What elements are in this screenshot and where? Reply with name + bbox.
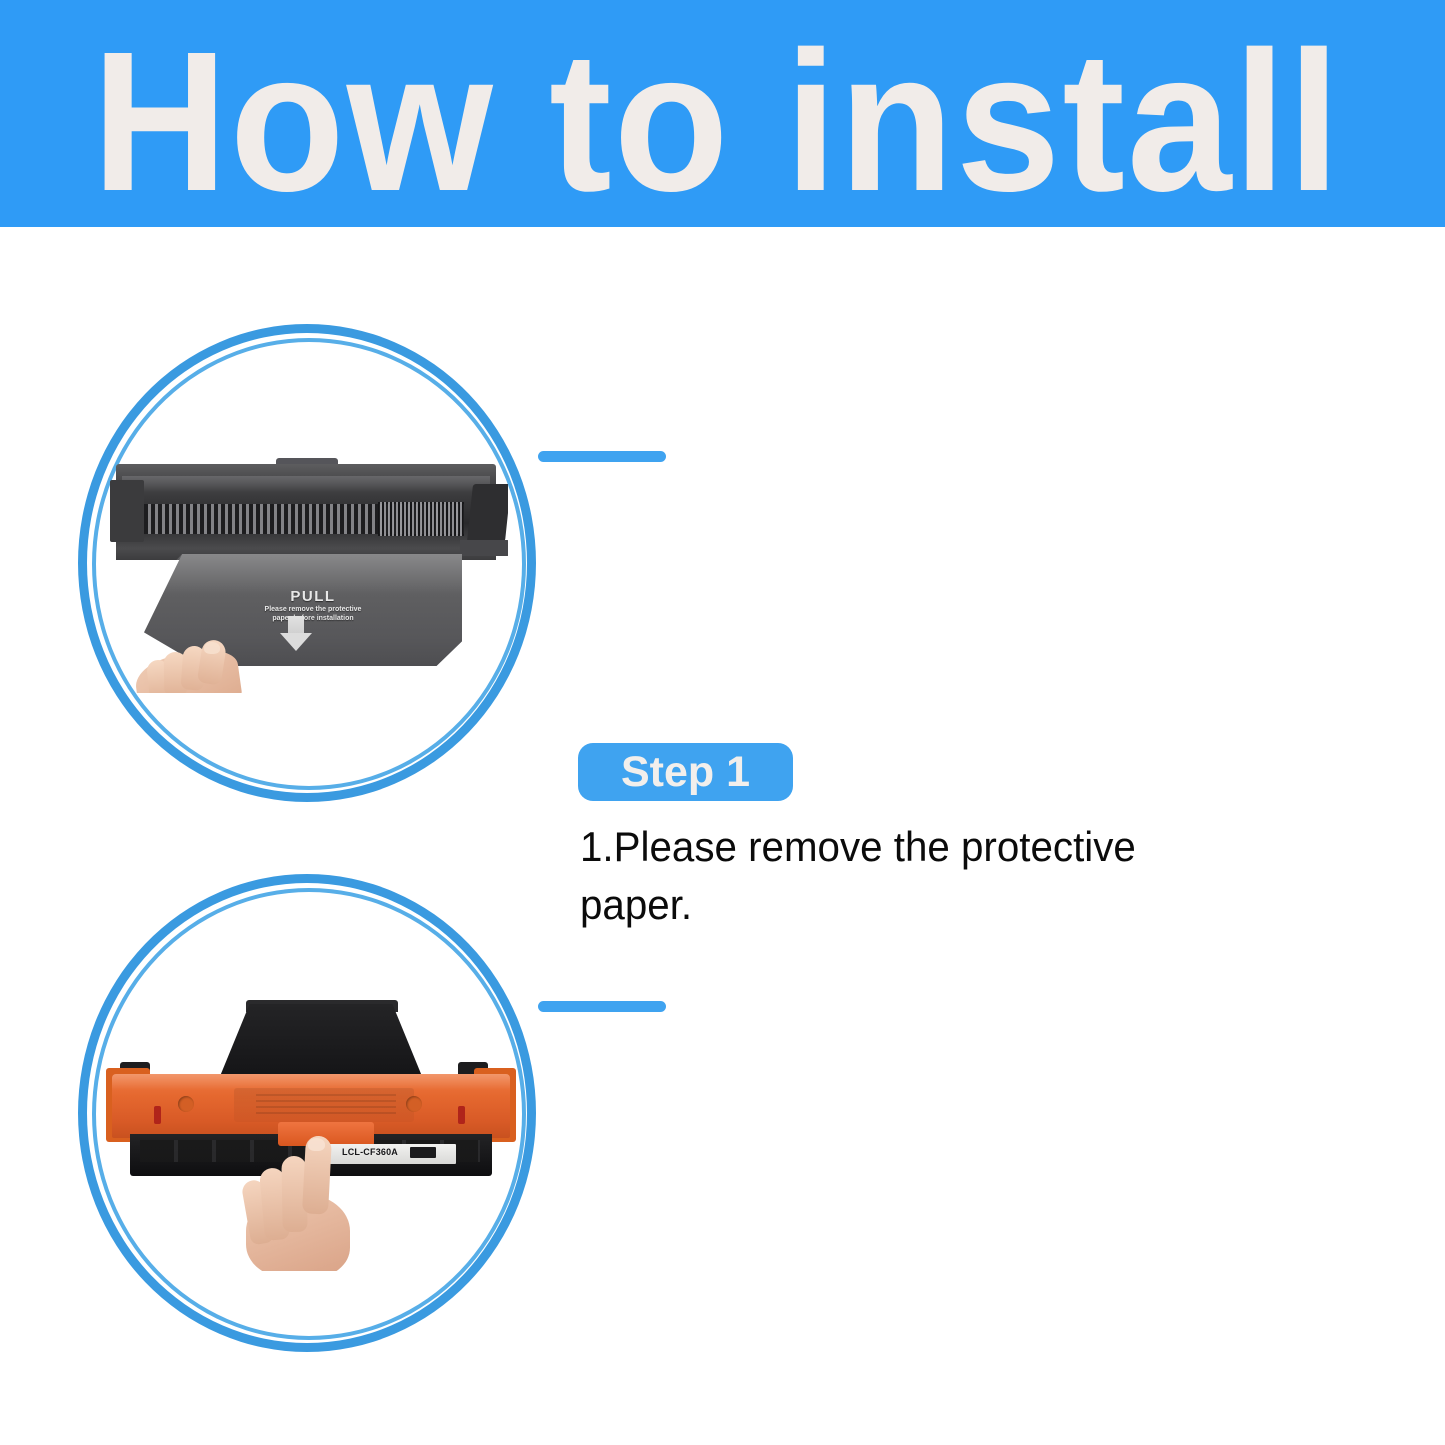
- product-label-barcode: [410, 1147, 436, 1158]
- red-marker-right: [458, 1106, 465, 1124]
- how-to-install-page: How to install: [0, 0, 1445, 1445]
- step-2-photo-circle: LCL-CF360A: [78, 868, 548, 1358]
- step-1-badge: Step 1: [578, 743, 793, 801]
- step-1-connector-line: [538, 451, 666, 462]
- page-title: How to install: [92, 30, 1342, 212]
- cartridge-fins-secondary: [378, 502, 464, 536]
- hand-holding-paper: [136, 634, 256, 693]
- pull-subtext-line-1: Please remove the protective: [228, 606, 398, 614]
- cartridge-right-ear: [467, 484, 508, 542]
- header-banner: How to install: [0, 0, 1445, 227]
- orange-cover-hole-left: [178, 1096, 194, 1112]
- pull-label-group: PULL Please remove the protective paper …: [228, 588, 398, 623]
- step-1-product-photo: PULL Please remove the protective paper …: [108, 458, 508, 693]
- orange-cover-emboss-lines: [256, 1094, 396, 1116]
- toner-cartridge-dark: PULL Please remove the protective paper …: [108, 458, 508, 693]
- cartridge-right-lip: [460, 540, 508, 556]
- step-1-badge-label: Step 1: [621, 751, 750, 794]
- step-1-photo-circle: PULL Please remove the protective paper …: [78, 318, 548, 808]
- step-2-block: LCL-CF360A Step 2 2.Please remove the pr…: [0, 868, 1445, 1373]
- cartridge-rail: [122, 476, 490, 492]
- orange-cover-hole-right: [406, 1096, 422, 1112]
- pull-subtext-line-2: paper before installation: [228, 615, 398, 623]
- pull-word: PULL: [228, 588, 398, 605]
- toner-cartridge-orange: LCL-CF360A: [106, 996, 516, 1271]
- step-1-block: PULL Please remove the protective paper …: [0, 318, 1445, 823]
- hand-holding-cover: [242, 1136, 372, 1271]
- red-marker-left: [154, 1106, 161, 1124]
- step-2-product-photo: LCL-CF360A: [106, 996, 516, 1271]
- cartridge-left-ear: [110, 480, 144, 542]
- step-2-connector-line: [538, 1001, 666, 1012]
